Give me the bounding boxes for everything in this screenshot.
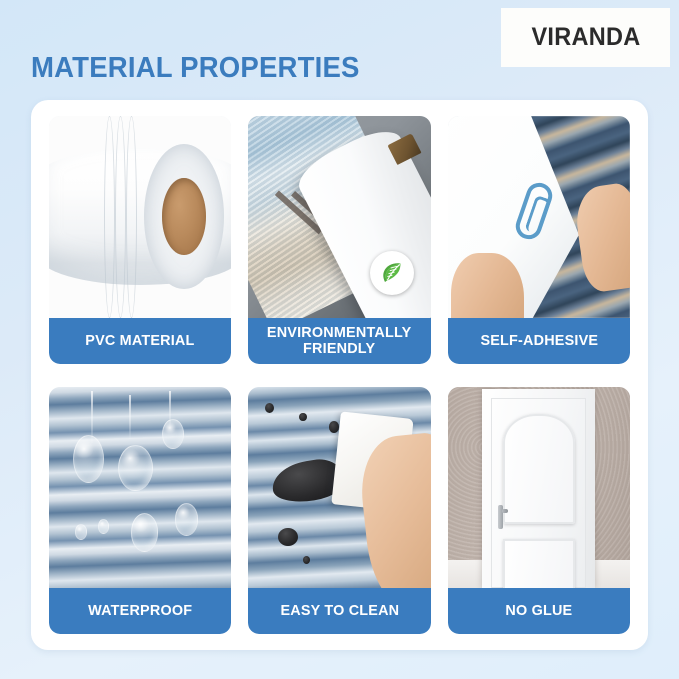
no-glue-image — [448, 387, 630, 589]
feature-label-text: NO GLUE — [505, 603, 572, 619]
dark-stain — [299, 413, 306, 421]
dark-stain — [278, 528, 298, 546]
dark-stain — [303, 556, 310, 564]
feature-label-environmentally-friendly: ENVIRONMENTALLY FRIENDLY — [248, 318, 430, 364]
door-panel-upper — [503, 414, 575, 524]
water-droplet — [73, 435, 104, 483]
feature-card-self-adhesive[interactable]: SELF-ADHESIVE — [448, 116, 630, 364]
feature-label-text: EASY TO CLEAN — [280, 603, 399, 619]
feature-label-no-glue: NO GLUE — [448, 588, 630, 634]
door-handle — [498, 505, 503, 530]
water-droplet — [118, 445, 153, 491]
feature-label-text: ENVIRONMENTALLY FRIENDLY — [256, 325, 423, 356]
environmentally-friendly-image — [248, 116, 430, 318]
brand-name: VIRANDA — [531, 23, 640, 52]
feature-card-environmentally-friendly[interactable]: ENVIRONMENTALLY FRIENDLY — [248, 116, 430, 364]
feature-label-waterproof: WATERPROOF — [49, 588, 231, 634]
pvc-roll-ring — [126, 116, 137, 318]
feature-label-text: PVC MATERIAL — [86, 333, 195, 349]
feature-label-text: SELF-ADHESIVE — [480, 333, 598, 349]
door-frame — [482, 389, 595, 588]
water-droplet — [175, 503, 199, 535]
feature-label-easy-to-clean: EASY TO CLEAN — [248, 588, 430, 634]
feature-card-pvc-material[interactable]: PVC MATERIAL — [49, 116, 231, 364]
pvc-material-image — [49, 116, 231, 318]
water-droplet — [131, 513, 158, 551]
pvc-cardboard-core — [162, 178, 206, 255]
pvc-roll-ring — [104, 116, 115, 318]
water-droplet — [162, 419, 184, 449]
green-leaf-icon — [378, 259, 406, 287]
water-droplet — [75, 524, 88, 540]
brand-logo-box: VIRANDA — [501, 8, 670, 67]
features-panel: PVC MATERIAL — [31, 100, 648, 650]
door-slab — [491, 398, 586, 588]
self-adhesive-image — [448, 116, 630, 318]
pvc-roll-ring — [115, 116, 126, 318]
easy-to-clean-image — [248, 387, 430, 589]
feature-label-text: WATERPROOF — [88, 603, 192, 619]
water-droplet — [98, 519, 109, 533]
door-panel-lower — [503, 539, 575, 588]
dark-stain — [265, 403, 274, 413]
dark-stain — [329, 421, 340, 433]
feature-label-self-adhesive: SELF-ADHESIVE — [448, 318, 630, 364]
feature-card-waterproof[interactable]: WATERPROOF — [49, 387, 231, 635]
feature-card-easy-to-clean[interactable]: EASY TO CLEAN — [248, 387, 430, 635]
water-trail — [129, 395, 131, 439]
features-grid: PVC MATERIAL — [49, 116, 630, 634]
feature-label-pvc-material: PVC MATERIAL — [49, 318, 231, 364]
feature-card-no-glue[interactable]: NO GLUE — [448, 387, 630, 635]
waterproof-image — [49, 387, 231, 589]
page-title: MATERIAL PROPERTIES — [31, 52, 360, 85]
